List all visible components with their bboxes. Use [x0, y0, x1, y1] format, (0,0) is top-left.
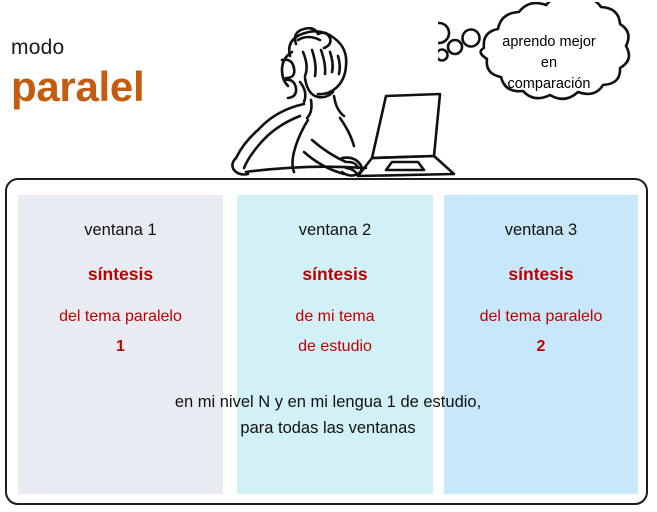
window-2-heading: síntesis — [237, 264, 433, 285]
window-column-2[interactable]: ventana 2 síntesis de mi tema de estudio — [237, 195, 433, 494]
window-3-heading: síntesis — [444, 264, 638, 285]
thought-bubble-line-2: en — [474, 53, 624, 74]
window-2-line-2: de estudio — [237, 338, 433, 356]
window-3-title: ventana 3 — [444, 221, 638, 240]
window-column-1[interactable]: ventana 1 síntesis del tema paralelo 1 — [18, 195, 223, 494]
thought-bubble-text: aprendo mejor en comparación — [474, 32, 624, 95]
window-2-line-1: de mi tema — [237, 308, 433, 326]
window-1-line-2: 1 — [18, 338, 223, 356]
window-column-3[interactable]: ventana 3 síntesis del tema paralelo 2 — [444, 195, 638, 494]
slide-canvas: modo paralel — [0, 0, 657, 512]
window-3-line-2: 2 — [444, 338, 638, 356]
window-1-heading: síntesis — [18, 264, 223, 285]
window-3-line-1: del tema paralelo — [444, 308, 638, 326]
page-title-modo: modo — [11, 36, 64, 60]
window-1-title: ventana 1 — [18, 221, 223, 240]
thought-bubble-line-3: comparación — [474, 74, 624, 95]
page-title-paralel: paralel — [11, 66, 144, 108]
window-2-title: ventana 2 — [237, 221, 433, 240]
thought-bubble-line-1: aprendo mejor — [474, 32, 624, 53]
windows-columns: ventana 1 síntesis del tema paralelo 1 v… — [18, 195, 638, 495]
window-1-line-1: del tema paralelo — [18, 308, 223, 326]
person-studying-at-laptop-icon — [208, 0, 458, 178]
